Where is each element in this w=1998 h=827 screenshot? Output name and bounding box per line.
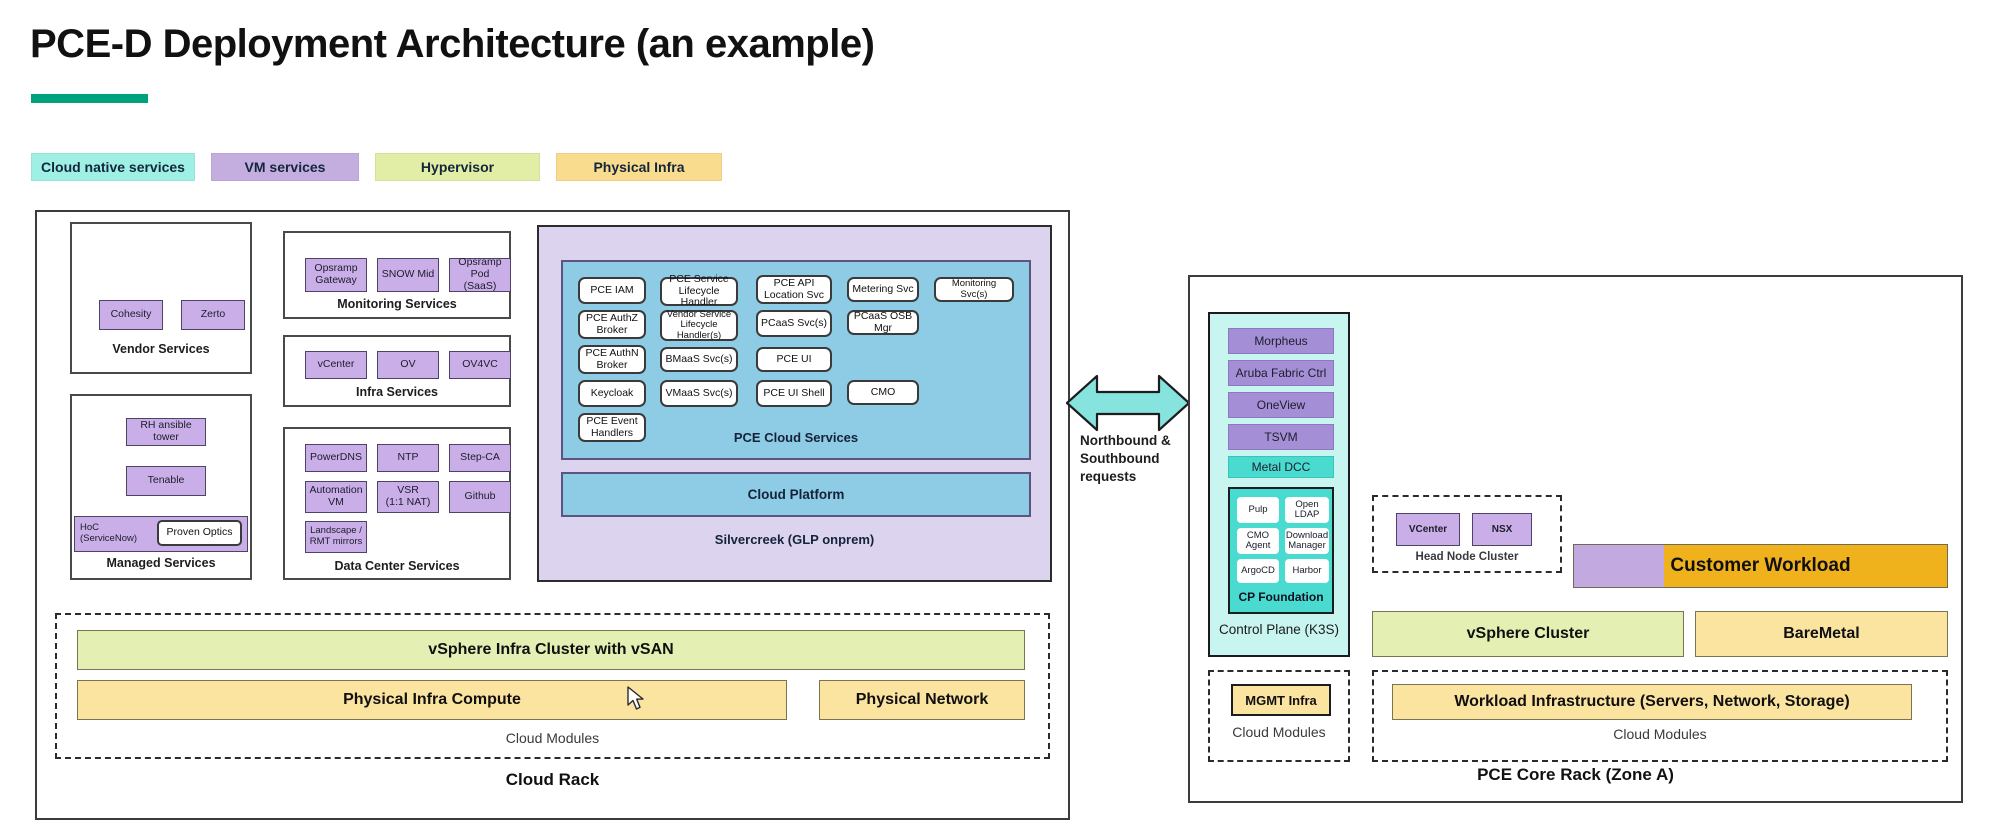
cpf-chip-open-ldap: Open LDAP (1285, 497, 1329, 523)
svc-pcaas: PCaaS Svc(s) (756, 310, 832, 337)
svc-pce-iam: PCE IAM (578, 277, 646, 304)
arrow-label: Northbound & Southbound requests (1080, 432, 1200, 487)
infra-services-caption: Infra Services (285, 385, 509, 399)
chip-vcenter: vCenter (305, 351, 367, 379)
cp-chip-tsvm: TSVM (1228, 424, 1334, 450)
bar-workload-infrastructure: Workload Infrastructure (Servers, Networ… (1392, 684, 1912, 720)
bar-mgmt-infra: MGMT Infra (1231, 684, 1331, 716)
chip-cohesity: Cohesity (99, 300, 163, 330)
control-plane-box: Morpheus Aruba Fabric Ctrl OneView TSVM … (1208, 312, 1350, 657)
chip-landscape-rmt-mirrors: Landscape / RMT mirrors (305, 521, 367, 553)
svc-metering: Metering Svc (847, 277, 919, 302)
chip-rh-ansible-tower: RH ansible tower (126, 418, 206, 446)
workload-cloud-modules-box: Workload Infrastructure (Servers, Networ… (1372, 670, 1948, 762)
cp-chip-morpheus: Morpheus (1228, 328, 1334, 354)
svc-vmaas: VMaaS Svc(s) (660, 380, 738, 407)
workload-cloud-modules-caption: Cloud Modules (1374, 726, 1946, 742)
chip-powerdns: PowerDNS (305, 444, 367, 472)
svc-keycloak: Keycloak (578, 380, 646, 407)
hnc-chip-nsx: NSX (1472, 513, 1532, 546)
chip-tenable: Tenable (126, 466, 206, 496)
legend: Cloud native services VM services Hyperv… (31, 153, 722, 181)
chip-step-ca: Step-CA (449, 444, 511, 472)
chip-opsramp-gateway: Opsramp Gateway (305, 258, 367, 292)
svc-bmaas: BMaaS Svc(s) (660, 347, 738, 372)
chip-automation-vm: Automation VM (305, 481, 367, 513)
cpf-chip-argocd: ArgoCD (1237, 559, 1279, 583)
bar-baremetal: BareMetal (1695, 611, 1948, 657)
legend-item-physical-infra: Physical Infra (556, 153, 722, 181)
bar-physical-network: Physical Network (819, 680, 1025, 720)
chip-vsr-nat: VSR (1:1 NAT) (377, 481, 439, 513)
bar-vsphere-infra-cluster: vSphere Infra Cluster with vSAN (77, 630, 1025, 670)
infra-services-box: vCenter OV OV4VC Infra Services (283, 335, 511, 407)
pce-cloud-services-box: PCE IAM PCE AuthZ Broker PCE AuthN Broke… (561, 260, 1031, 460)
diagram-canvas: PCE-D Deployment Architecture (an exampl… (0, 0, 1998, 827)
legend-item-cloud-native: Cloud native services (31, 153, 195, 181)
cloud-modules-dashed-box: vSphere Infra Cluster with vSAN Physical… (55, 613, 1050, 759)
bar-physical-infra-compute: Physical Infra Compute (77, 680, 787, 720)
chip-ov: OV (377, 351, 439, 379)
chip-github: Github (449, 481, 511, 513)
chip-zerto: Zerto (181, 300, 245, 330)
mgmt-cloud-modules-caption: Cloud Modules (1210, 724, 1348, 740)
page-title: PCE-D Deployment Architecture (an exampl… (30, 22, 874, 67)
mouse-cursor (627, 686, 647, 712)
svc-pce-authz-broker: PCE AuthZ Broker (578, 310, 646, 339)
vendor-services-caption: Vendor Services (72, 342, 250, 356)
chip-snow-mid: SNOW Mid (377, 258, 439, 292)
cp-foundation-caption: CP Foundation (1230, 590, 1332, 604)
svc-pce-ui-shell: PCE UI Shell (756, 380, 832, 407)
cp-chip-metal-dcc: Metal DCC (1228, 456, 1334, 478)
vendor-services-box: Cohesity Zerto Vendor Services (70, 222, 252, 374)
monitoring-services-box: Opsramp Gateway SNOW Mid Opsramp Pod (Sa… (283, 231, 511, 319)
monitoring-services-caption: Monitoring Services (285, 297, 509, 311)
legend-item-hypervisor: Hypervisor (375, 153, 540, 181)
svc-pce-authn-broker: PCE AuthN Broker (578, 345, 646, 374)
hnc-chip-vcenter: VCenter (1396, 513, 1460, 546)
customer-workload-label: Customer Workload (1574, 545, 1947, 587)
managed-services-box: RH ansible tower Tenable HoC (ServiceNow… (70, 394, 252, 580)
title-accent-rule (31, 94, 148, 103)
svc-vendor-service-lifecycle-handlers: Vendor Service Lifecycle Handler(s) (660, 310, 738, 341)
data-center-services-caption: Data Center Services (285, 559, 509, 573)
legend-item-vm-services: VM services (211, 153, 359, 181)
chip-ov4vc: OV4VC (449, 351, 511, 379)
silvercreek-caption: Silvercreek (GLP onprem) (539, 532, 1050, 547)
control-plane-caption: Control Plane (K3S) (1210, 622, 1348, 637)
cloud-rack-caption: Cloud Rack (35, 770, 1070, 790)
svc-pce-service-lifecycle-handler: PCE Service Lifecycle Handler (660, 277, 738, 306)
managed-services-caption: Managed Services (72, 556, 250, 570)
pce-cloud-services-caption: PCE Cloud Services (563, 430, 1029, 445)
data-center-services-box: PowerDNS NTP Step-CA Automation VM VSR (… (283, 427, 511, 580)
head-node-cluster-caption: Head Node Cluster (1374, 551, 1560, 563)
chip-opsramp-pod-saas: Opsramp Pod (SaaS) (449, 258, 511, 292)
svc-pce-api-location: PCE API Location Svc (756, 275, 832, 304)
svc-pce-ui: PCE UI (756, 347, 832, 372)
cpf-chip-harbor: Harbor (1285, 559, 1329, 583)
mgmt-cloud-modules-box: MGMT Infra Cloud Modules (1208, 670, 1350, 762)
svc-monitoring: Monitoring Svc(s) (934, 277, 1014, 302)
pce-core-rack-caption: PCE Core Rack (Zone A) (1188, 765, 1963, 785)
silvercreek-box: PCE IAM PCE AuthZ Broker PCE AuthN Broke… (537, 225, 1052, 582)
svc-pcaas-osb-mgr: PCaaS OSB Mgr (847, 310, 919, 335)
cpf-chip-pulp: Pulp (1237, 497, 1279, 523)
svc-cmo: CMO (847, 380, 919, 405)
customer-workload-bar: Customer Workload (1573, 544, 1948, 588)
cloud-modules-caption-left: Cloud Modules (57, 730, 1048, 746)
head-node-cluster-box: VCenter NSX Head Node Cluster (1372, 495, 1562, 573)
cpf-chip-download-manager: Download Manager (1285, 528, 1329, 554)
chip-ntp: NTP (377, 444, 439, 472)
cpf-chip-cmo-agent: CMO Agent (1237, 528, 1279, 554)
cp-chip-oneview: OneView (1228, 392, 1334, 418)
bar-vsphere-cluster: vSphere Cluster (1372, 611, 1684, 657)
cp-chip-aruba-fabric-ctrl: Aruba Fabric Ctrl (1228, 360, 1334, 386)
cloud-platform-bar: Cloud Platform (561, 472, 1031, 517)
chip-proven-optics: Proven Optics (157, 520, 242, 546)
cp-foundation-box: Pulp Open LDAP CMO Agent Download Manage… (1228, 487, 1334, 614)
